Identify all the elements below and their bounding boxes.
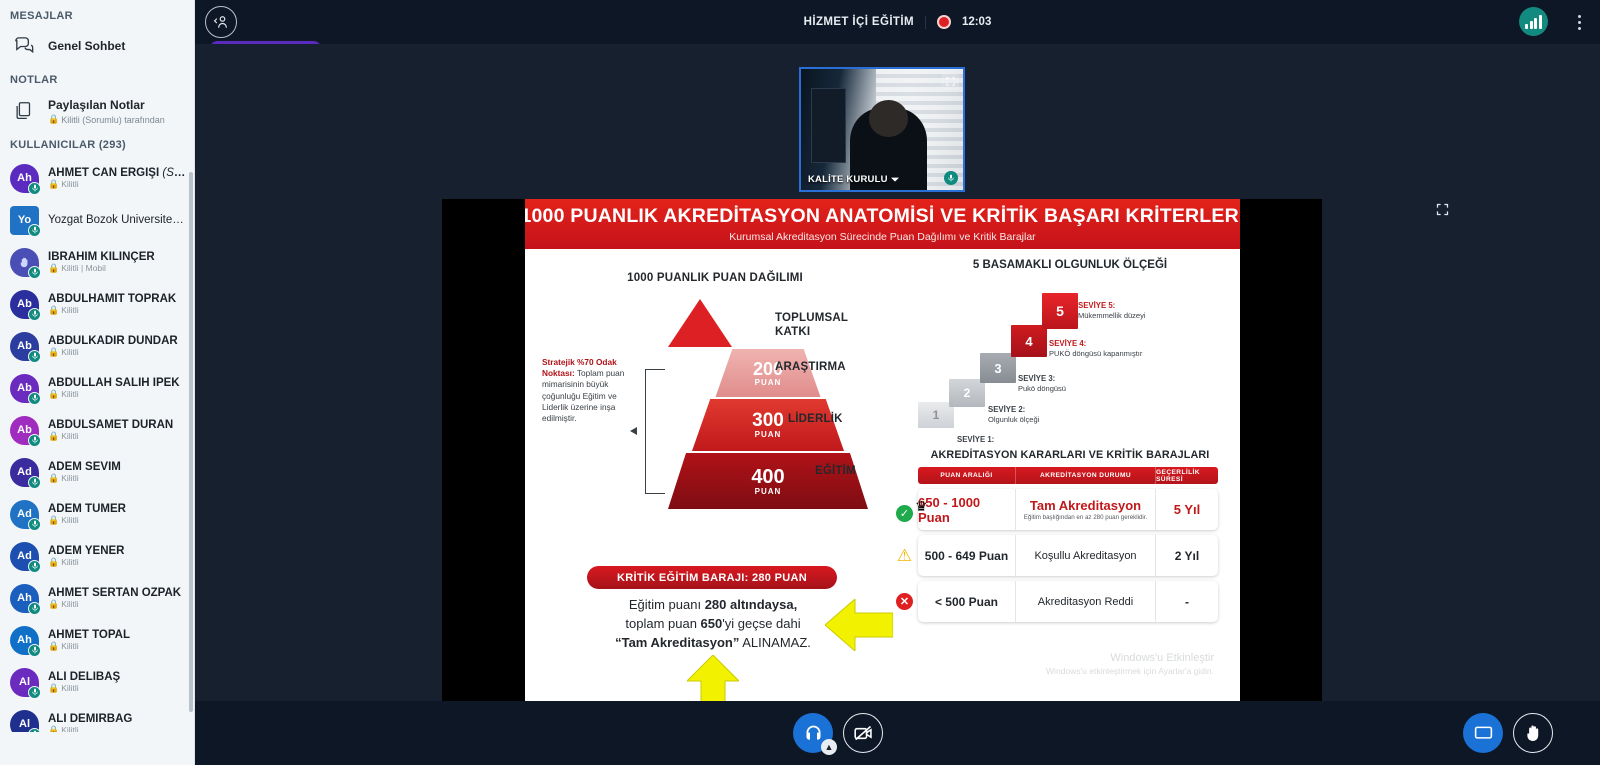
audio-toggle-button[interactable]: ▲ — [793, 713, 833, 753]
user-status: 🔒Kilitli — [48, 515, 126, 526]
mic-on-icon — [28, 728, 41, 733]
user-name: ADEM SEVİM — [48, 461, 121, 473]
background-object — [811, 88, 847, 163]
scale-and-table-section: 5 BASAMAKLI OLGUNLUK ÖLÇEĞİ 1 2 3 4 5 SE… — [900, 249, 1240, 701]
mic-on-icon — [28, 560, 41, 573]
recording-timer: 12:03 — [962, 16, 991, 28]
slide-body: 1000 PUANLIK PUAN DAĞILIMI 100 PUAN 200 … — [525, 249, 1240, 701]
table-row: < 500 Puan Akreditasyon Reddi - — [918, 581, 1218, 622]
cell-duration: 5 Yıl — [1174, 502, 1201, 517]
meeting-info: HİZMET İÇİ EĞİTİM 12:03 — [195, 0, 1600, 44]
lock-icon: 🔒 — [48, 473, 59, 484]
sidebar-item-genel-sohbet[interactable]: Genel Sohbet — [0, 28, 195, 64]
mic-on-icon — [28, 686, 41, 699]
user-name: Yozgat Bozok Üniversitesi Persone… — [48, 214, 187, 226]
raise-hand-icon — [1523, 723, 1544, 744]
pyramid-tier-4: 400 PUAN — [668, 453, 868, 509]
level-2-label: SEVİYE 2:Olgunluk ölçeği — [988, 405, 1039, 425]
scale-heading: 5 BASAMAKLI OLGUNLUK ÖLÇEĞİ — [900, 259, 1240, 271]
strategy-note: Stratejik %70 Odak Noktası: Toplam puan … — [542, 357, 645, 424]
stair-level-4: 4 — [1011, 325, 1047, 357]
user-status: 🔒Kilitli — [48, 725, 132, 733]
camera-toggle-button[interactable] — [843, 713, 883, 753]
avatar: Ab — [10, 374, 39, 403]
avatar — [10, 248, 39, 277]
lock-icon: 🔒 — [48, 347, 59, 358]
stair-level-5: 5 — [1042, 293, 1078, 329]
user-list-item[interactable]: İBRAHİM KILINÇER🔒Kilitli | Mobil — [0, 241, 195, 283]
slide-subtitle: Kurumsal Akreditasyon Sürecinde Puan Dağ… — [729, 231, 1035, 243]
user-list[interactable]: AhAHMET CAN ERGİŞİ (Sen)🔒KilitliYoYozgat… — [0, 157, 195, 732]
mic-on-icon — [28, 350, 41, 363]
mic-on-icon — [28, 266, 41, 279]
mic-on-icon — [28, 182, 41, 195]
lock-icon: 🔒 — [48, 389, 59, 400]
headset-icon — [803, 723, 824, 744]
pyramid-label-egitim: EĞİTİM — [815, 465, 856, 477]
mic-on-icon — [28, 224, 41, 237]
lock-icon: 🔒 — [48, 641, 59, 652]
x-circle-icon: ✕ — [896, 593, 913, 610]
user-status: 🔒Kilitli — [48, 389, 180, 400]
lock-icon: 🔒 — [48, 431, 59, 442]
pyramid-label-arastirma: ARAŞTIRMA — [775, 361, 846, 373]
avatar: Ad — [10, 500, 39, 529]
slide: 1000 PUANLIK AKREDİTASYON ANATOMİSİ VE K… — [525, 199, 1240, 701]
user-status: 🔒Kilitli — [48, 641, 130, 652]
webcam-tile[interactable]: KALİTE KURULU — [799, 67, 965, 192]
user-list-item[interactable]: AhAHMET TOPAL🔒Kilitli — [0, 619, 195, 661]
mic-on-icon — [28, 518, 41, 531]
user-status: 🔒Kilitli — [48, 557, 124, 568]
camera-off-icon — [853, 723, 874, 744]
pyramid-tier-1 — [668, 299, 732, 347]
sidebar: MESAJLAR Genel Sohbet NOTLAR Paylaşılan … — [0, 0, 195, 765]
top-bar: KALİTE KURULU HİZMET İÇİ EĞİTİM 12:03 — [195, 0, 1600, 44]
cell-range: 650 - 1000 Puan — [918, 495, 1015, 525]
webcam-label: KALİTE KURULU — [808, 174, 899, 185]
table-header-row: PUAN ARALIĞI AKREDİTASYON DURUMU GEÇERLİ… — [918, 467, 1218, 484]
user-list-item[interactable]: AbABDULSAMET DURAN🔒Kilitli — [0, 409, 195, 451]
mic-on-icon — [28, 476, 41, 489]
notes-sub: 🔒 Kilitli (Sorumlu) tarafından — [48, 114, 165, 125]
table-heading: AKREDİTASYON KARARLARI VE KRİTİK BARAJLA… — [900, 449, 1240, 461]
mic-on-icon — [28, 644, 41, 657]
user-status: 🔒Kilitli — [48, 305, 176, 316]
stair-level-3: 3 — [980, 353, 1016, 383]
pyramid-heading: 1000 PUANLIK PUAN DAĞILIMI — [585, 272, 845, 284]
critical-threshold-pill: KRİTİK EĞİTİM BARAJI: 280 PUAN — [587, 566, 837, 589]
user-name: ALİ DEMİRBAĞ — [48, 713, 132, 725]
user-name: AHMET TOPAL — [48, 629, 130, 641]
raise-hand-button[interactable] — [1513, 713, 1553, 753]
table-row: 650 - 1000 Puan Tam Akreditasyon Eğitim … — [918, 489, 1218, 530]
column-header-range: PUAN ARALIĞI — [918, 467, 1016, 484]
chat-icon — [10, 32, 38, 60]
column-header-status: AKREDİTASYON DURUMU — [1016, 467, 1156, 484]
cell-status: Tam Akreditasyon — [1030, 498, 1141, 513]
critical-warning-text: Eğitim puanı 280 altındaysa, toplam puan… — [599, 596, 827, 653]
notes-icon — [10, 97, 38, 125]
pyramid-label-toplumsal: TOPLUMSAL KATKI — [775, 311, 845, 340]
chevron-down-icon — [891, 176, 899, 184]
arrow-up-icon — [687, 655, 739, 701]
stair-level-2: 2 — [949, 379, 985, 407]
lock-icon: 🔒 — [48, 114, 59, 125]
mic-on-icon — [28, 602, 41, 615]
cell-note: Eğitim başlığından en az 280 puan gerekl… — [1024, 514, 1148, 522]
slide-title: 1000 PUANLIK AKREDİTASYON ANATOMİSİ VE K… — [525, 205, 1240, 228]
bottom-bar: ▲ — [195, 701, 1600, 765]
user-list-item[interactable]: AlALİ DEMİRBAĞ🔒Kilitli — [0, 703, 195, 732]
cell-range: 500 - 649 Puan — [925, 549, 1008, 563]
table-row: 500 - 649 Puan Koşullu Akreditasyon 2 Yı… — [918, 535, 1218, 576]
lock-icon: 🔒 — [48, 263, 59, 274]
pyramid-tier-2: 200 PUAN — [716, 349, 821, 397]
user-name: ABDULHAMİT TOPRAK — [48, 293, 176, 305]
avatar: Ab — [10, 290, 39, 319]
lock-icon: 🔒 — [48, 515, 59, 526]
user-name: ABDULLAH SALİH İPEK — [48, 377, 180, 389]
user-status: 🔒Kilitli — [48, 599, 181, 610]
avatar: Ad — [10, 542, 39, 571]
brace-bracket — [645, 369, 665, 494]
lock-icon: 🔒 — [48, 683, 59, 694]
level-4-label: SEVİYE 4:PUKÖ döngüsü kapanmıştır — [1049, 339, 1142, 359]
cell-status: Koşullu Akreditasyon — [1034, 550, 1136, 562]
avatar: Ab — [10, 332, 39, 361]
pyramid-label-liderlik: LİDERLİK — [788, 413, 843, 425]
meeting-stage: KALİTE KURULU 1000 PUANLIK AKREDİTASYON … — [195, 44, 1600, 701]
user-status: 🔒Kilitli | Mobil — [48, 263, 155, 274]
avatar: Al — [10, 710, 39, 733]
user-name: ALİ DELİBAŞ — [48, 671, 120, 683]
participant-head — [869, 100, 908, 136]
mic-on-icon — [28, 308, 41, 321]
lock-icon: 🔒 — [48, 305, 59, 316]
avatar: Yo — [10, 206, 39, 235]
avatar: Ah — [10, 164, 39, 193]
user-name: ABDULSAMET DURAN — [48, 419, 173, 431]
cell-duration: 2 Yıl — [1175, 549, 1199, 563]
user-list-item[interactable]: AbABDULHAMİT TOPRAK🔒Kilitli — [0, 283, 195, 325]
user-name: AHMET SERTAN ÖZPAK — [48, 587, 181, 599]
lock-icon: 🔒 — [48, 179, 59, 190]
presentation-area[interactable]: 1000 PUANLIK AKREDİTASYON ANATOMİSİ VE K… — [442, 199, 1322, 701]
meeting-app: MESAJLAR Genel Sohbet NOTLAR Paylaşılan … — [0, 0, 1600, 765]
user-name: ADEM TÜMER — [48, 503, 126, 515]
user-list-item[interactable]: AbABDULLAH SALİH İPEK🔒Kilitli — [0, 367, 195, 409]
mic-on-icon — [28, 392, 41, 405]
user-name: ABDULKADİR DÜNDAR — [48, 335, 178, 347]
fullscreen-icon[interactable] — [1432, 199, 1452, 219]
warning-triangle-icon: ⚠ — [896, 547, 913, 564]
slide-header: 1000 PUANLIK AKREDİTASYON ANATOMİSİ VE K… — [525, 199, 1240, 249]
cell-status: Akreditasyon Reddi — [1038, 596, 1133, 608]
avatar: Ab — [10, 416, 39, 445]
screen-share-button[interactable] — [1463, 713, 1503, 753]
avatar: Al — [10, 668, 39, 697]
kebab-menu-icon[interactable] — [1568, 10, 1590, 34]
crown-icon: ♛ — [915, 498, 928, 515]
user-status: 🔒Kilitli — [48, 179, 187, 190]
avatar: Ah — [10, 626, 39, 655]
windows-activation-watermark: Windows'u Etkinleştir Windows'u etkinleş… — [1046, 652, 1214, 676]
mic-on-icon — [28, 434, 41, 447]
sidebar-item-paylasilan-notlar[interactable]: Paylaşılan Notlar 🔒 Kilitli (Sorumlu) ta… — [0, 92, 195, 129]
notes-header: NOTLAR — [0, 64, 195, 92]
user-list-item[interactable]: AdADEM SEVİM🔒Kilitli — [0, 451, 195, 493]
user-list-item[interactable]: AbABDULKADİR DÜNDAR🔒Kilitli — [0, 325, 195, 367]
separator — [925, 16, 926, 29]
column-header-duration: GEÇERLİLİK SÜRESİ — [1156, 467, 1218, 484]
check-circle-icon: ✓ — [896, 505, 913, 522]
mic-on-icon — [944, 171, 958, 185]
pyramid-section: 1000 PUANLIK PUAN DAĞILIMI 100 PUAN 200 … — [525, 249, 900, 701]
avatar: Ah — [10, 584, 39, 613]
audio-options-caret[interactable]: ▲ — [821, 739, 837, 755]
chat-label: Genel Sohbet — [48, 39, 125, 53]
user-list-item[interactable]: AhAHMET CAN ERGİŞİ (Sen)🔒Kilitli — [0, 157, 195, 199]
meeting-title: HİZMET İÇİ EĞİTİM — [804, 16, 914, 28]
cell-range: < 500 Puan — [935, 595, 998, 609]
notes-label: Paylaşılan Notlar — [48, 98, 145, 112]
expand-icon[interactable] — [942, 73, 959, 90]
user-list-item[interactable]: AlALİ DELİBAŞ🔒Kilitli — [0, 661, 195, 703]
avatar: Ad — [10, 458, 39, 487]
screen-share-icon — [1473, 723, 1494, 744]
lock-icon: 🔒 — [48, 725, 59, 733]
user-name: İBRAHİM KILINÇER — [48, 251, 155, 263]
user-list-item[interactable]: AhAHMET SERTAN ÖZPAK🔒Kilitli — [0, 577, 195, 619]
user-name: AHMET CAN ERGİŞİ (Sen) — [48, 167, 187, 179]
user-status: 🔒Kilitli — [48, 683, 120, 694]
level-3-label: SEVİYE 3:Pukö döngüsü — [1018, 374, 1066, 394]
user-list-item[interactable]: YoYozgat Bozok Üniversitesi Persone… — [0, 199, 195, 241]
level-1-label: SEVİYE 1: — [957, 435, 994, 445]
connection-bars-icon[interactable] — [1519, 7, 1548, 36]
pyramid-tier-3: 300 PUAN — [692, 399, 844, 451]
recording-indicator-icon[interactable] — [937, 15, 951, 29]
user-list-item[interactable]: AdADEM TÜMER🔒Kilitli — [0, 493, 195, 535]
sidebar-scrollbar[interactable] — [189, 172, 193, 712]
user-status: 🔒Kilitli — [48, 473, 121, 484]
user-status: 🔒Kilitli — [48, 431, 173, 442]
messages-header: MESAJLAR — [0, 0, 195, 28]
level-5-label: SEVİYE 5:Mükemmellik düzeyi — [1078, 301, 1146, 321]
user-status: 🔒Kilitli — [48, 347, 178, 358]
users-header: KULLANICILAR (293) — [0, 129, 195, 157]
user-list-item[interactable]: AdADEM YENER🔒Kilitli — [0, 535, 195, 577]
arrow-right-icon — [825, 599, 893, 651]
cell-duration: - — [1185, 595, 1189, 609]
brace-arrow-icon — [630, 427, 637, 435]
accreditation-table: PUAN ARALIĞI AKREDİTASYON DURUMU GEÇERLİ… — [918, 467, 1218, 622]
lock-icon: 🔒 — [48, 599, 59, 610]
lock-icon: 🔒 — [48, 557, 59, 568]
user-name: ADEM YENER — [48, 545, 124, 557]
